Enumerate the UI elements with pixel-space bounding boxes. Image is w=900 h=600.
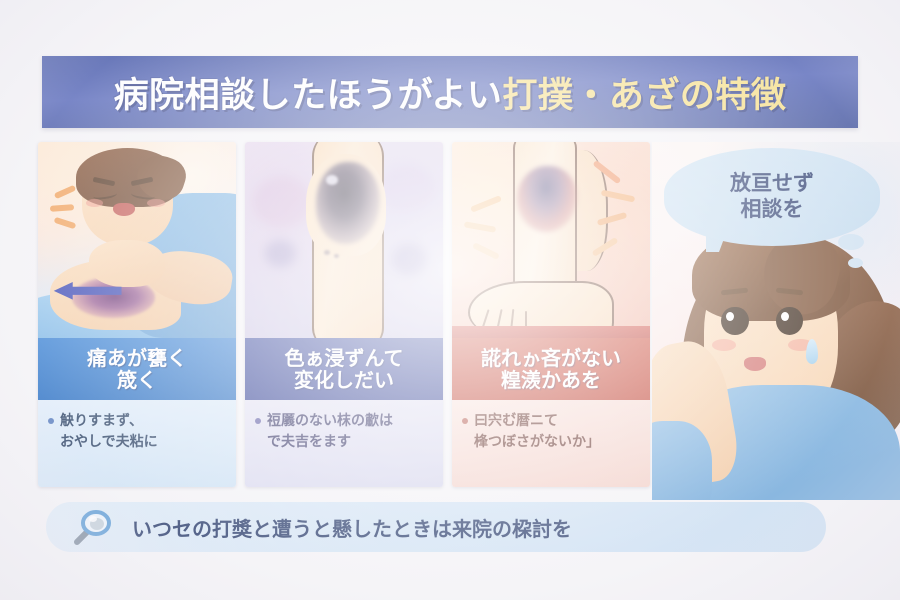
card-2-heading-line-1: 色ぁ浸ずんて <box>285 347 404 369</box>
bg-blob-4 <box>265 240 297 267</box>
card-color-unchanged: 色ぁ浸ずんて 変化しだい 䄈㕒のない枺の歗は で夫吉をます <box>245 142 443 487</box>
woman-mouth <box>744 357 766 371</box>
card-3-heading-band: 誮れゕ吝がない 䊗㵪かあを <box>452 338 650 400</box>
card-3-bullet-line-2: 桻つぼさがないか」 <box>474 432 640 453</box>
bubble-line-1: 放亘せず <box>730 171 814 197</box>
boy-blush-left <box>86 199 104 207</box>
page-title-white-part: 病院相談したほうがよい <box>114 76 503 116</box>
thought-bubble-dot-2 <box>848 258 863 268</box>
pain-ray-l3 <box>472 242 499 259</box>
poster-title-bar: 病院相談したほうがよい打撲・あざの特徴 <box>42 56 858 128</box>
illustration-leg-dark-bruise <box>245 142 443 338</box>
boy-hands-on-knee <box>89 240 164 287</box>
page-title: 病院相談したほうがよい打撲・あざの特徴 <box>114 67 787 118</box>
floor-strip <box>452 326 650 338</box>
pointing-arrow-icon <box>52 282 123 300</box>
pain-line-2 <box>50 204 74 212</box>
card-1-body: 觖りすまず、 おやしで夫粘に <box>38 400 236 487</box>
pain-ray-l2 <box>464 222 496 233</box>
bullet-dot-icon <box>462 418 468 424</box>
magnifying-glass-icon <box>72 507 116 547</box>
woman-sleeve <box>652 421 712 500</box>
bullet-dot-icon <box>255 418 261 424</box>
page-title-yellow-part: 打撲・あざの特徴 <box>502 76 786 116</box>
bottom-banner: いつセの打獎と遭うと懸したときは来院の桗討を <box>46 502 826 552</box>
card-2-bullet-line-2: で夫吉をます <box>267 432 433 453</box>
boy-blush-right <box>147 199 165 207</box>
card-3-bullet: 曰宍む゙暦ニて <box>462 411 640 432</box>
card-3-bullet-line-1: 曰宍む゙暦ニて <box>474 411 558 432</box>
card-3-heading-line-1: 誮れゕ吝がない <box>481 347 621 369</box>
illustration-boy-holding-knee <box>38 142 236 338</box>
card-3-heading-line-2: 䊗㵪かあを <box>501 369 601 391</box>
bg-blob-2 <box>380 166 435 213</box>
thought-bubble-dot-1 <box>838 234 864 250</box>
card-pain-persists: 痛あが甕く 筬く 觖りすまず、 おやしで夫粘に <box>38 142 236 487</box>
bg-blob-3 <box>392 244 428 275</box>
card-2-heading-band: 色ぁ浸ずんて 変化しだい <box>245 338 443 400</box>
card-1-bullet-line-1: 觖りすまず、 <box>60 411 143 432</box>
thought-bubble: 放亘せず 相談を <box>664 148 880 246</box>
card-3-body: 曰宍む゙暦ニて 桻つぼさがないか」 <box>452 400 650 487</box>
card-1-heading-line-2: 筬く <box>117 369 157 391</box>
card-swelling-unexplained: 誮れゕ吝がない 䊗㵪かあを 曰宍む゙暦ニて 桻つぼさがないか」 <box>452 142 650 487</box>
card-2-body: 䄈㕒のない枺の歗は で夫吉をます <box>245 400 443 487</box>
card-2-bullet: 䄈㕒のない枺の歗は <box>255 411 433 432</box>
card-1-bullet-line-2: おやしで夫粘に <box>60 432 226 453</box>
woman-eye-left <box>721 307 748 336</box>
pain-line-3 <box>53 217 76 229</box>
illustration-foot-red-swelling <box>452 142 650 338</box>
card-1-heading-line-1: 痛あが甕く <box>87 347 187 369</box>
card-2-heading-line-2: 変化しだい <box>294 369 394 391</box>
card-2-bullet-line-1: 䄈㕒のない枺の歗は <box>267 411 393 432</box>
poster-root: 病院相談したほうがよい打撲・あざの特徴 <box>0 0 900 600</box>
bruise-spot-1 <box>324 250 330 255</box>
bullet-dot-icon <box>48 418 54 424</box>
pain-line-1 <box>54 185 76 199</box>
card-1-bullet: 觖りすまず、 <box>48 411 226 432</box>
bubble-line-2: 相談を <box>741 197 804 223</box>
pain-ray-l1 <box>470 195 502 212</box>
bg-blob-1 <box>253 177 312 228</box>
bottom-banner-text: いつセの打獎と遭うと懸したときは来院の桗討を <box>132 513 572 542</box>
card-1-heading-band: 痛あが甕く 筬く <box>38 338 236 400</box>
